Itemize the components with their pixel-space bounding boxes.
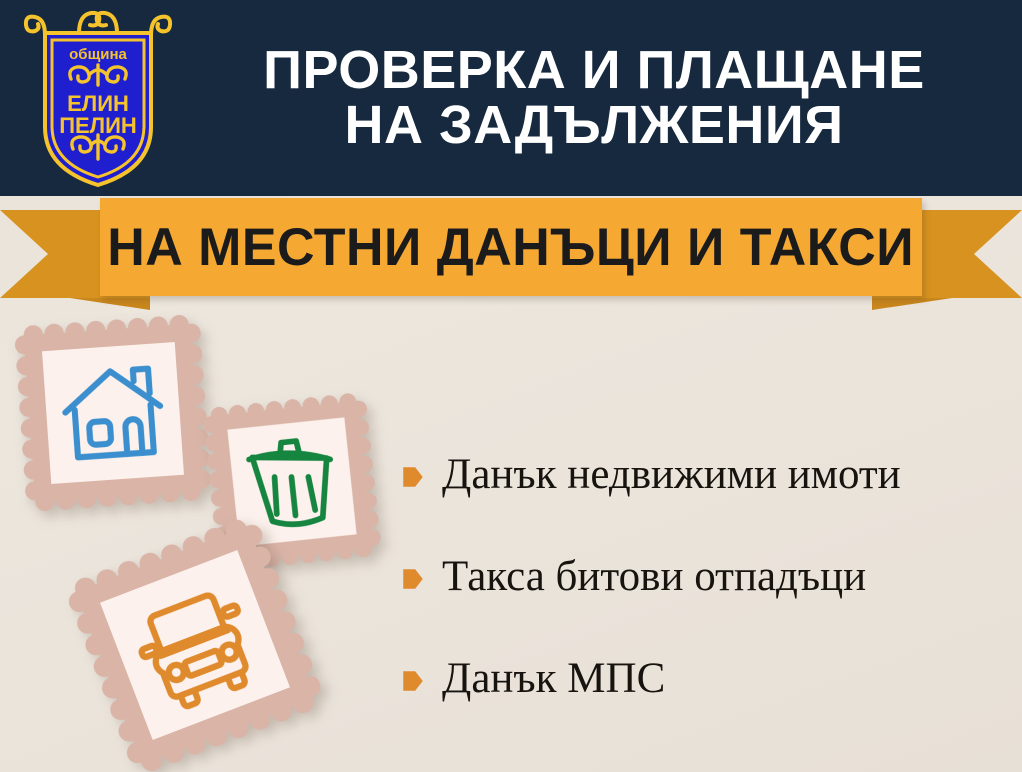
subtitle-ribbon: НА МЕСТНИ ДАНЪЦИ И ТАКСИ xyxy=(0,196,1022,308)
stamp-property-tax xyxy=(12,312,215,515)
list-item[interactable]: Такса битови отпадъци xyxy=(400,526,1010,628)
ribbon-center-panel: НА МЕСТНИ ДАНЪЦИ И ТАКСИ xyxy=(100,198,922,296)
list-item-label: Такса битови отпадъци xyxy=(442,554,866,599)
page-title: ПРОВЕРКА И ПЛАЩАНЕ НА ЗАДЪЛЖЕНИЯ xyxy=(196,43,1022,153)
list-item[interactable]: Данък МПС xyxy=(400,628,1010,730)
pentagon-arrow-right-icon xyxy=(400,668,426,694)
ribbon-label: НА МЕСТНИ ДАНЪЦИ И ТАКСИ xyxy=(108,217,915,278)
promo-banner: община ЕЛИН ПЕЛИН ПРОВЕРКА И ПЛАЩАНЕ НА … xyxy=(0,0,1022,772)
house-stamp-graphic xyxy=(12,312,215,515)
tax-types-list: Данък недвижими имоти Такса битови отпад… xyxy=(400,424,1010,730)
list-item-label: Данък МПС xyxy=(442,656,665,701)
pentagon-arrow-right-icon xyxy=(400,464,426,490)
municipality-logo: община ЕЛИН ПЕЛИН xyxy=(0,0,196,196)
banner-header: община ЕЛИН ПЕЛИН ПРОВЕРКА И ПЛАЩАНЕ НА … xyxy=(0,0,1022,196)
page-title-line-1: ПРОВЕРКА И ПЛАЩАНЕ xyxy=(196,43,992,98)
crest-top-text: община xyxy=(69,46,127,63)
list-item-label: Данък недвижими имоти xyxy=(442,452,901,497)
elin-pelin-crest-icon: община ЕЛИН ПЕЛИН xyxy=(23,7,173,189)
crest-main-text-2: ПЕЛИН xyxy=(59,113,137,138)
pentagon-arrow-right-icon xyxy=(400,566,426,592)
page-title-line-2: НА ЗАДЪЛЖЕНИЯ xyxy=(196,98,992,153)
list-item[interactable]: Данък недвижими имоти xyxy=(400,424,1010,526)
